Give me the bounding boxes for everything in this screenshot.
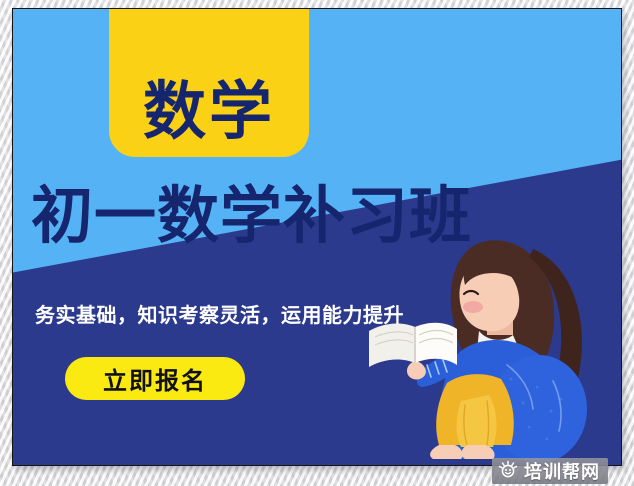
poster-canvas: 数学 bbox=[0, 0, 634, 486]
promo-banner-card: 数学 bbox=[12, 8, 622, 466]
site-watermark-label: 培训帮网 bbox=[524, 458, 600, 484]
page-title: 初一数学补习班 bbox=[31, 185, 601, 247]
girl-reading-book-illustration bbox=[361, 215, 611, 465]
enroll-now-button-label: 立即报名 bbox=[103, 361, 207, 396]
enroll-now-button[interactable]: 立即报名 bbox=[65, 357, 245, 400]
smiley-sun-icon bbox=[498, 460, 518, 483]
subject-badge: 数学 bbox=[109, 8, 309, 157]
subject-badge-label: 数学 bbox=[143, 80, 275, 143]
site-watermark: 培训帮网 bbox=[492, 458, 608, 484]
subtitle-text: 务实基础，知识考察灵活，运用能力提升 bbox=[35, 299, 404, 328]
